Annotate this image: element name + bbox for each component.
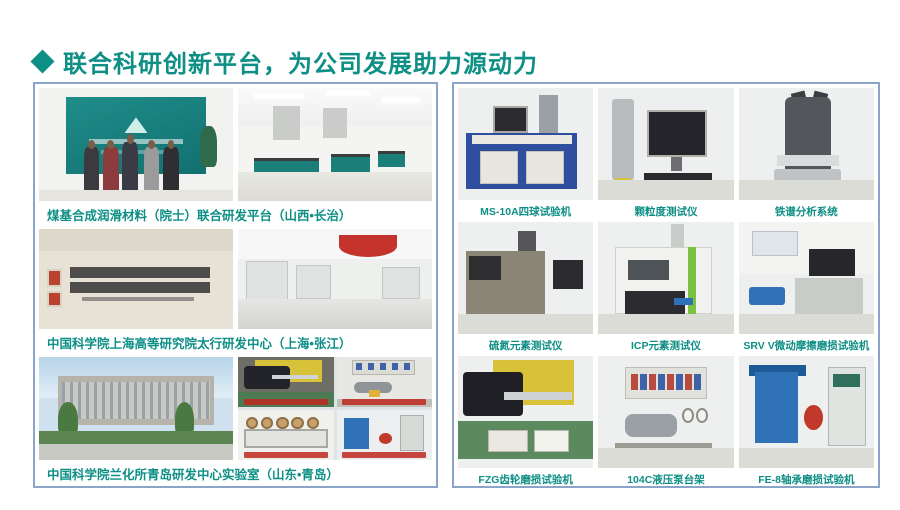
equipment-caption: ICP元素测试仪 [598, 334, 733, 356]
equipment-caption: FZG齿轮磨损试验机 [458, 468, 593, 490]
equipment-caption: SRV V微动摩擦磨损试验机 [739, 334, 874, 356]
equipment-item: MS-10A四球试验机 [458, 88, 593, 222]
srv-v-fretting-wear-tester [739, 222, 874, 334]
equipment-item: FZG齿轮磨损试验机 [458, 356, 593, 490]
equipment-caption: 硫氮元素测试仪 [458, 334, 593, 356]
platform-caption: 中国科学院上海高等研究院太行研发中心（上海•张江） [39, 329, 432, 357]
equipment-item: SRV V微动摩擦磨损试验机 [739, 222, 874, 356]
equipment-item: FE-8轴承磨损试验机 [739, 356, 874, 490]
equipment-item: 颗粒度测试仪 [598, 88, 733, 222]
equipment-caption: 颗粒度测试仪 [598, 200, 733, 222]
platform-row [39, 88, 432, 201]
icp-element-analyzer [598, 222, 733, 334]
four-ball-tester [458, 88, 593, 200]
equipment-caption: 铁谱分析系统 [739, 200, 874, 222]
hydraulic-pump-bench [337, 357, 433, 407]
clean-laboratory-benches [238, 88, 432, 201]
group-photo-teal-backdrop [39, 88, 233, 201]
research-platforms-panel: 煤基合成润滑材料（院士）联合研发平台（山西•长治） 中国科学院上海高等研究院太行… [33, 82, 438, 488]
institute-building-exterior [39, 357, 233, 460]
test-equipment-panel: MS-10A四球试验机 颗粒度测试仪 铁谱分析系统 硫氮元素测试仪 [452, 82, 880, 488]
equipment-collage [238, 357, 432, 460]
104c-hydraulic-pump-bench [598, 356, 733, 468]
equipment-caption: 104C液压泵台架 [598, 468, 733, 490]
fe-8-bearing-wear-tester [739, 356, 874, 468]
equipment-row: MS-10A四球试验机 颗粒度测试仪 铁谱分析系统 [458, 88, 874, 222]
ferrography-analysis-system [739, 88, 874, 200]
roller-test-rig [238, 410, 334, 460]
bearing-test-rig [337, 410, 433, 460]
equipment-item: ICP元素测试仪 [598, 222, 733, 356]
laboratory-corridor [238, 229, 432, 329]
platform-row [39, 357, 432, 460]
platform-caption: 中国科学院兰化所青岛研发中心实验室（山东•青岛） [39, 460, 432, 488]
page-title: 联合科研创新平台，为公司发展助力源动力 [34, 44, 538, 79]
diamond-icon [30, 49, 54, 73]
equipment-item: 硫氮元素测试仪 [458, 222, 593, 356]
equipment-item: 104C液压泵台架 [598, 356, 733, 490]
page-title-text: 联合科研创新平台，为公司发展助力源动力 [63, 44, 538, 79]
equipment-row: FZG齿轮磨损试验机 104C液压泵台架 FE-8轴承磨损试验机 [458, 356, 874, 490]
platform-caption: 煤基合成润滑材料（院士）联合研发平台（山西•长治） [39, 201, 432, 229]
gear-test-rig [238, 357, 334, 407]
equipment-row: 硫氮元素测试仪 ICP元素测试仪 SRV V微动摩擦磨损试验机 [458, 222, 874, 356]
platform-row [39, 229, 432, 329]
fzg-gear-wear-tester [458, 356, 593, 468]
particle-counter [598, 88, 733, 200]
sulfur-nitrogen-analyzer [458, 222, 593, 334]
lab-wall-signage [39, 229, 233, 329]
equipment-item: 铁谱分析系统 [739, 88, 874, 222]
equipment-caption: MS-10A四球试验机 [458, 200, 593, 222]
equipment-caption: FE-8轴承磨损试验机 [739, 468, 874, 490]
